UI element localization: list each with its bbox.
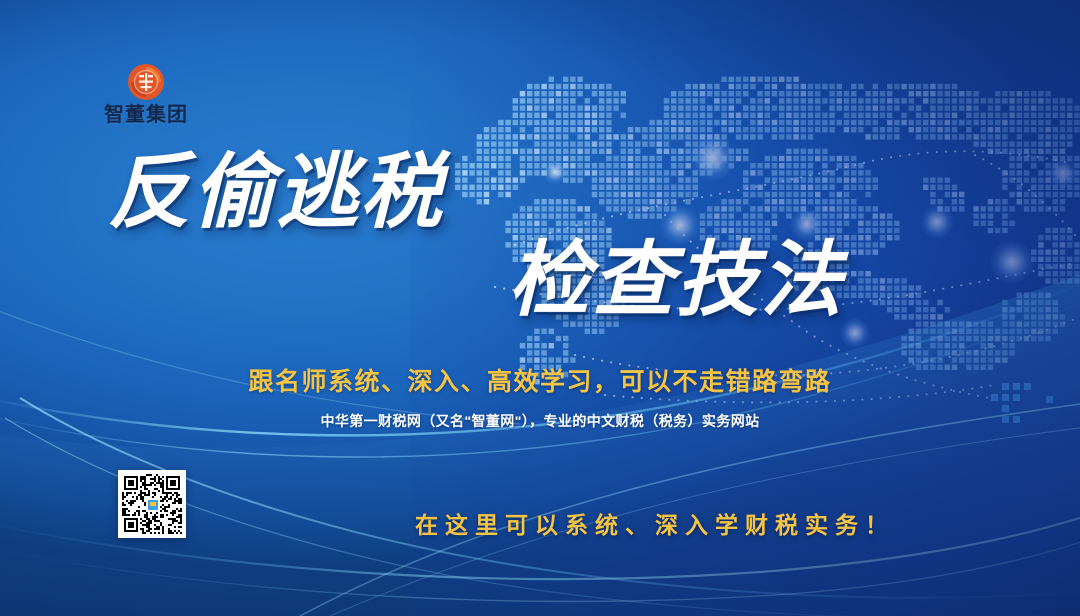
byline-text: 中华第一财税网（又名"智董网"），专业的中文财税（税务）实务网站 [0,411,1080,431]
zhidong-circular-emblem-icon [126,62,166,102]
logo-subtext: ZHIDONG GROUP [100,128,192,134]
subtitle-text: 跟名师系统、深入、高效学习，可以不走错路弯路 [0,362,1080,398]
map-node-glow [690,135,736,181]
brand-logo[interactable]: 智董集团 ZHIDONG GROUP [100,62,192,134]
page-title-line1: 反偷逃税 [108,152,444,234]
promo-poster: 智董集团 ZHIDONG GROUP 反偷逃税 检查技法 跟名师系统、深入、高效… [0,0,1080,616]
map-node-glow [920,205,954,239]
map-node-glow [1048,158,1078,188]
map-node-glow [990,240,1034,284]
tagline-text: 在这里可以系统、深入学财税实务！ [260,506,1050,540]
map-node-glow [543,160,567,184]
logo-name: 智董集团 [100,104,192,126]
map-node-glow [840,318,870,348]
qr-code[interactable] [118,470,186,538]
page-title-line2: 检查技法 [508,240,844,322]
